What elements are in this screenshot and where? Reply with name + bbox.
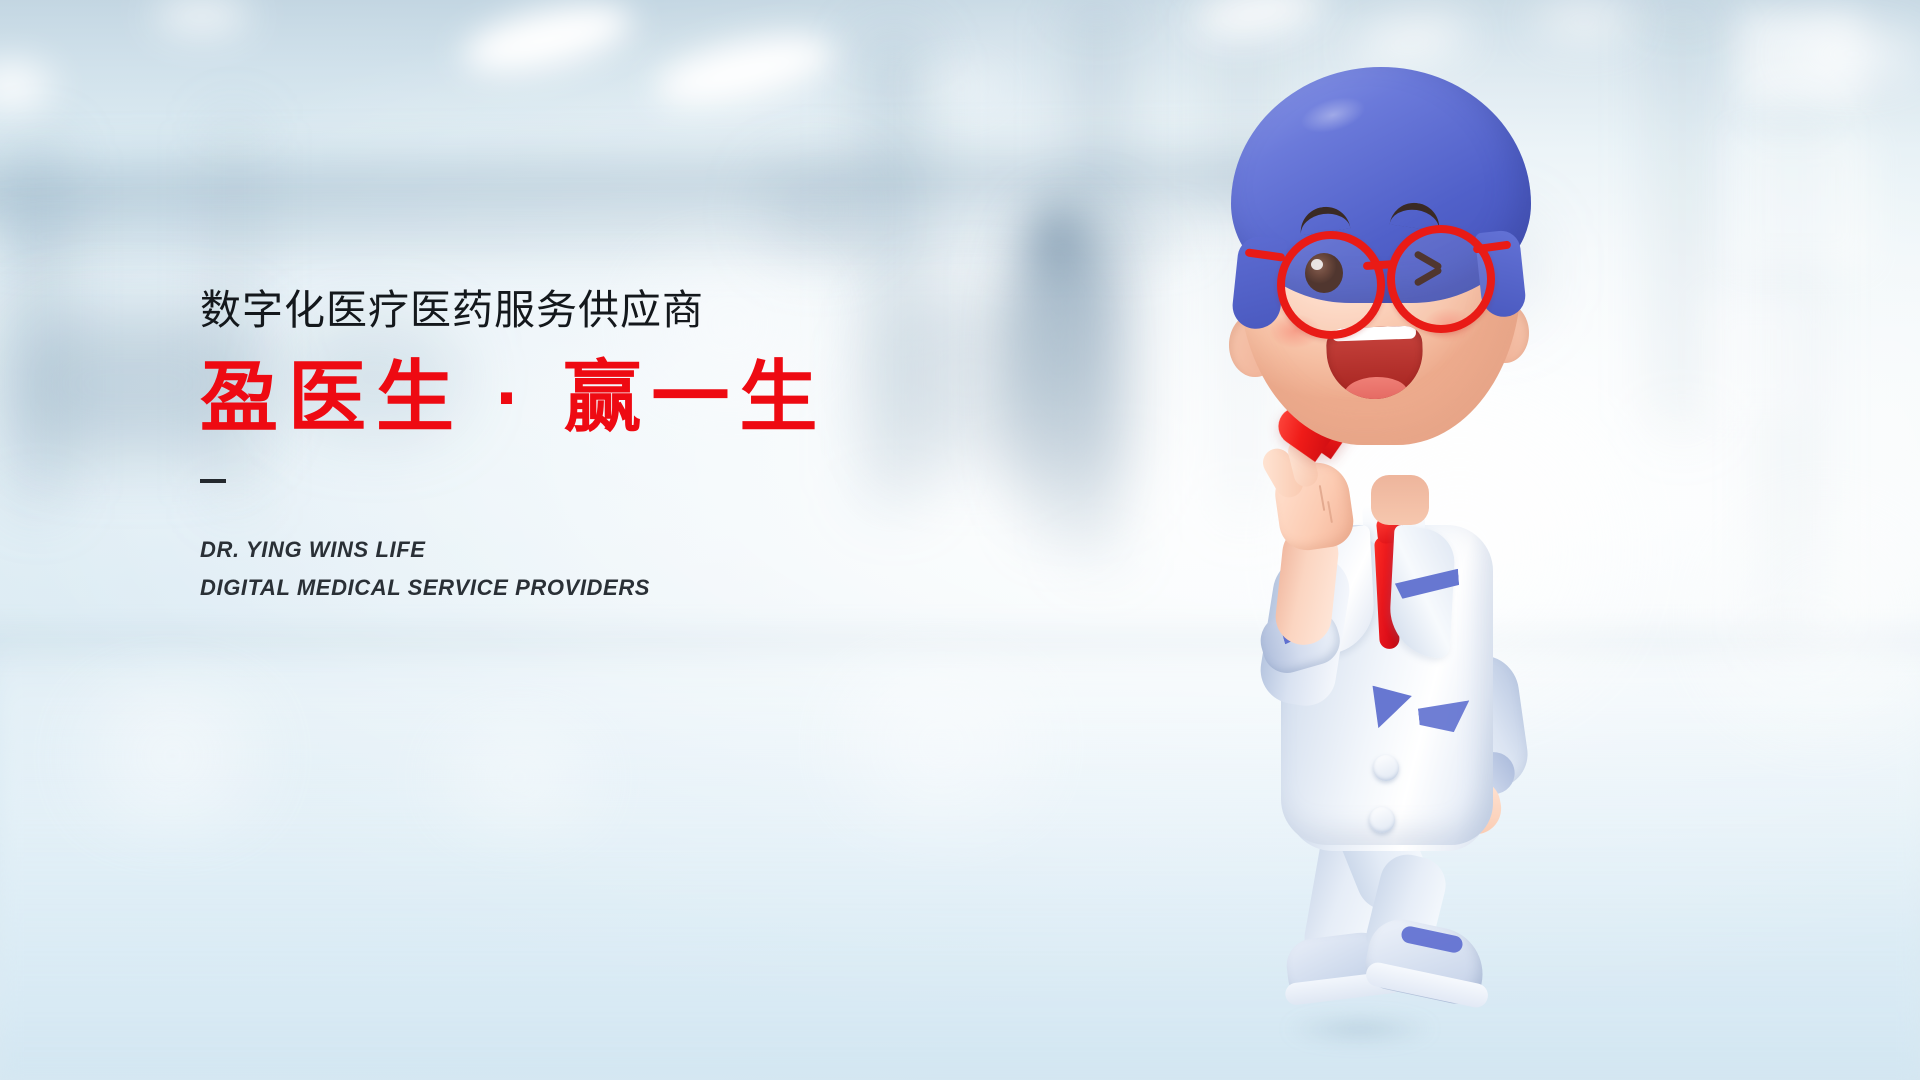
- divider-rule: [200, 479, 226, 483]
- glasses-lens-left: [1277, 231, 1385, 339]
- tagline-chinese: 数字化医疗医药服务供应商: [200, 288, 960, 333]
- glasses-lens-right: [1387, 225, 1495, 333]
- mascot-tongue: [1344, 376, 1409, 401]
- ceiling-light: [154, 0, 250, 32]
- background-window-pane: [1699, 292, 1814, 422]
- background-person-silhouette: [1008, 205, 1108, 551]
- subtitle-english-line-2: DIGITAL MEDICAL SERVICE PROVIDERS: [200, 569, 960, 607]
- subtitle-english-block: DR. YING WINS LIFE DIGITAL MEDICAL SERVI…: [200, 531, 960, 607]
- floor-light-reflection: [768, 648, 1114, 842]
- mascot-neck: [1371, 475, 1429, 525]
- ceiling-light: [1786, 32, 1920, 75]
- mascot-coat-button: [1369, 807, 1395, 833]
- ceiling-light: [1536, 5, 1632, 37]
- headline-chinese: 盈医生 · 赢一生: [200, 355, 960, 439]
- background-window-pane: [1728, 130, 1872, 270]
- mascot-doctor-character: [1195, 55, 1615, 1065]
- subtitle-english-line-1: DR. YING WINS LIFE: [200, 531, 960, 569]
- floor-light-reflection: [19, 670, 326, 843]
- background-column: [1661, 0, 1703, 432]
- mascot-coat-button: [1373, 755, 1399, 781]
- banner-copy-block: 数字化医疗医药服务供应商 盈医生 · 赢一生 DR. YING WINS LIF…: [200, 288, 960, 607]
- floor-light-reflection: [384, 713, 653, 843]
- background-ceiling-band: [0, 221, 1190, 253]
- banner-stage: 数字化医疗医药服务供应商 盈医生 · 赢一生 DR. YING WINS LIF…: [0, 0, 1920, 1080]
- mascot-ground-shadow: [1255, 1010, 1465, 1048]
